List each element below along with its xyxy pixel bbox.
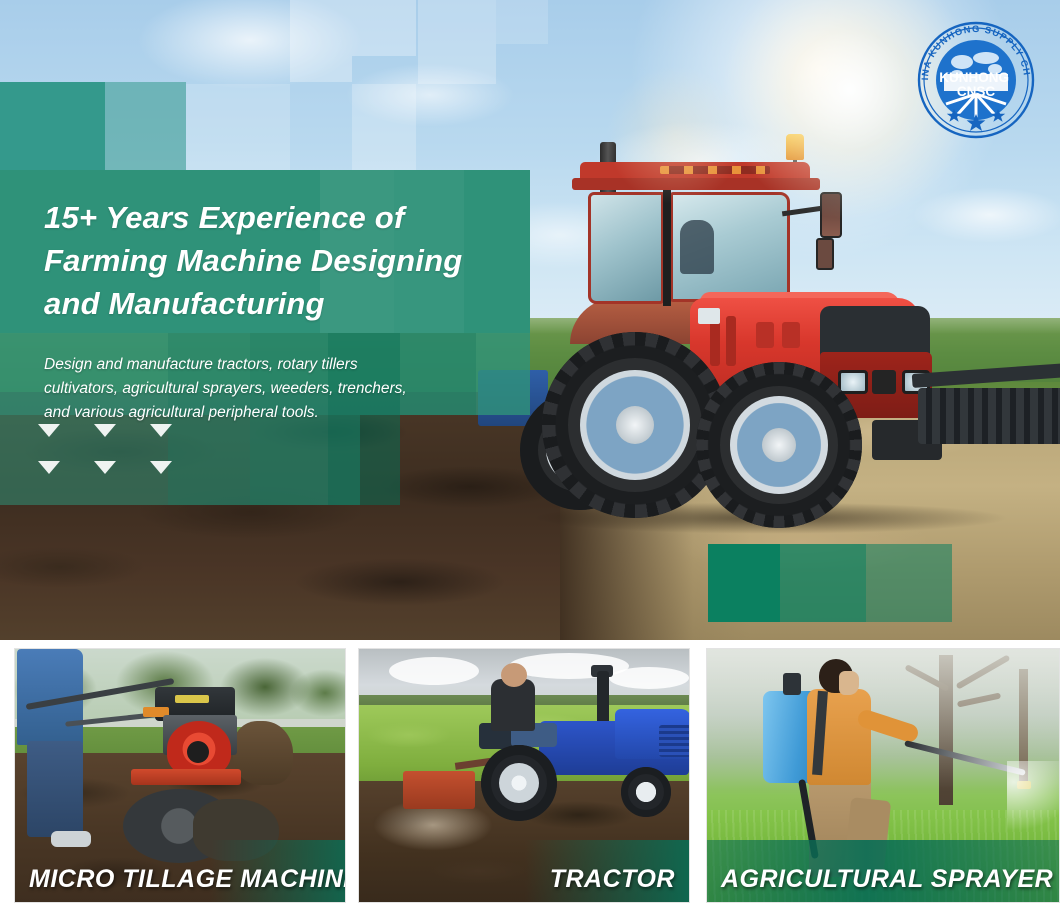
triangle-down-icon: [150, 424, 172, 437]
sky-mosaic-tile: [290, 0, 352, 82]
sky-mosaic-tile: [418, 0, 496, 84]
card-label: MICRO TILLAGE MACHINE: [15, 865, 345, 894]
headline-line: Farming Machine Designing: [44, 239, 514, 282]
headline-line: and Manufacturing: [44, 282, 514, 325]
tractor-hood-vent: [782, 322, 800, 348]
tractor-driver-silhouette: [680, 220, 714, 274]
accent-block-bottomright-fade: [866, 544, 952, 622]
hero-subcopy: Design and manufacture tractors, rotary …: [44, 353, 514, 425]
tractor-wheel-hub: [762, 428, 796, 462]
tractor-side-mirror: [820, 192, 842, 238]
triangle-down-icon: [94, 424, 116, 437]
triangle-down-icon: [38, 424, 60, 437]
tractor-front-panel: [872, 370, 896, 394]
sky-mosaic-tile: [496, 0, 548, 44]
accent-block-topleft: [0, 82, 105, 170]
accent-block-bottomright-fade: [780, 544, 866, 622]
tractor-front-weight: [918, 388, 1060, 444]
hero-copy: 15+ Years Experience of Farming Machine …: [44, 196, 514, 425]
tractor-side-mirror-lower: [816, 238, 834, 270]
arrow-row: [38, 424, 168, 437]
tractor-hood-vent: [726, 316, 736, 366]
accent-block-topleft-fade: [105, 82, 186, 170]
arrow-row: [38, 461, 168, 474]
tractor-badge: [698, 308, 720, 324]
logo-line2: CNSC: [957, 84, 996, 99]
triangle-down-icon: [94, 461, 116, 474]
subcopy-line: cultivators, agricultural sprayers, weed…: [44, 377, 514, 401]
card-label: TRACTOR: [359, 865, 689, 894]
product-card-row: MICRO TILLAGE MACHINE TRACTOR: [0, 640, 1060, 903]
sky-mosaic-tile: [352, 0, 416, 56]
tractor-wheel-hub: [616, 406, 654, 444]
hero-banner: 15+ Years Experience of Farming Machine …: [0, 0, 1060, 640]
lens-flare-secondary: [600, 60, 750, 210]
product-card-agricultural-sprayer[interactable]: AGRICULTURAL SPRAYER: [706, 648, 1060, 903]
headline-line: 15+ Years Experience of: [44, 196, 514, 239]
accent-block-bottomright: [708, 544, 780, 622]
product-card-micro-tillage-machine[interactable]: MICRO TILLAGE MACHINE: [14, 648, 346, 903]
tractor-hood-vent: [756, 322, 774, 348]
sky-mosaic-tile: [352, 84, 416, 170]
triangle-down-icon: [38, 461, 60, 474]
subcopy-line: Design and manufacture tractors, rotary …: [44, 353, 514, 377]
tractor-weight-bar: [912, 362, 1060, 388]
tractor-beacon-light: [786, 134, 804, 160]
company-logo: KUNHONG CNSC CHINA KUNHONG SUPPLY CHAIN: [910, 14, 1042, 146]
product-card-tractor[interactable]: TRACTOR: [358, 648, 690, 903]
subcopy-line: and various agricultural peripheral tool…: [44, 401, 514, 425]
logo-line1: KUNHONG: [939, 70, 1009, 85]
triangle-down-icon: [150, 461, 172, 474]
sky-mosaic-tile: [186, 84, 290, 170]
tractor-headlight: [838, 370, 868, 394]
card-label: AGRICULTURAL SPRAYER: [707, 865, 1059, 894]
page-title: 15+ Years Experience of Farming Machine …: [44, 196, 514, 325]
decorative-arrows: [38, 424, 168, 498]
